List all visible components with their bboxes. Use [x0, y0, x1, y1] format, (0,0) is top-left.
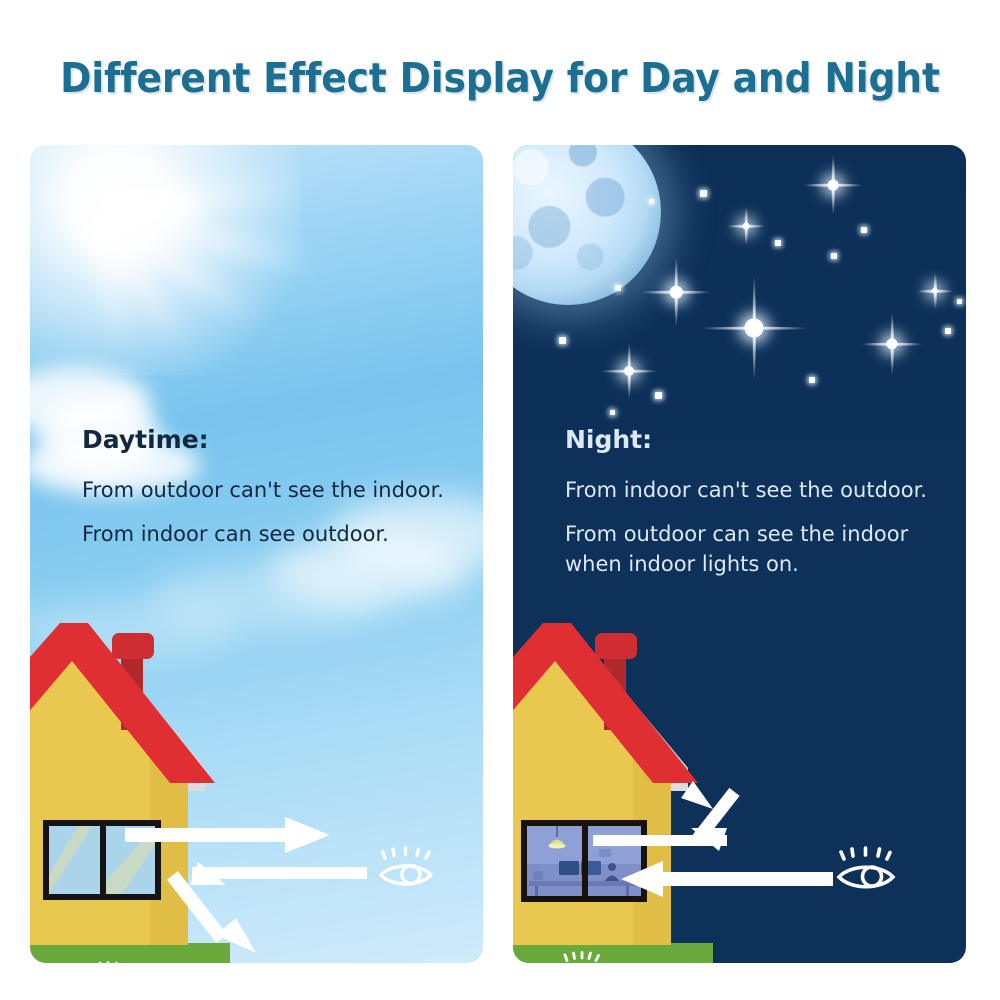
grass-strip [30, 943, 230, 963]
caption-line: From outdoor can see the indoor [565, 520, 965, 550]
caption-night: Night: From indoor can't see the outdoor… [565, 425, 965, 593]
chimney-cap [595, 633, 637, 659]
panel-daytime: Daytime: From outdoor can't see the indo… [30, 145, 483, 963]
star-icon [649, 199, 654, 204]
caption-title-daytime: Daytime: [82, 425, 482, 454]
star-icon [615, 285, 621, 291]
window-mullion [582, 826, 588, 896]
star-icon [917, 273, 953, 309]
grass-strip [513, 943, 713, 963]
indoor-eye-icon [559, 950, 605, 963]
star-icon [861, 313, 923, 375]
panel-night: Night: From indoor can't see the outdoor… [513, 145, 966, 963]
star-icon [610, 410, 615, 415]
caption-line: when indoor lights on. [565, 550, 965, 580]
caption-title-night: Night: [565, 425, 965, 454]
star-icon [727, 207, 765, 245]
outdoor-eye-icon [833, 845, 899, 893]
star-icon [803, 155, 863, 215]
star-icon [559, 337, 566, 344]
star-icon [831, 253, 837, 259]
house-illustration-night [513, 613, 966, 963]
moon-shading [513, 145, 661, 305]
page-title: Different Effect Display for Day and Nig… [40, 54, 960, 102]
star-icon [601, 343, 657, 399]
indoor-eye-icon [86, 960, 130, 963]
chimney-cap [112, 633, 154, 659]
caption-line: From indoor can see outdoor. [82, 520, 482, 550]
star-icon [945, 328, 951, 334]
house-illustration-daytime [30, 613, 483, 963]
caption-line: From indoor can't see the outdoor. [565, 476, 965, 506]
caption-line: From outdoor can't see the indoor. [82, 476, 482, 506]
star-icon [809, 377, 815, 383]
star-icon [701, 275, 807, 381]
star-icon [775, 240, 781, 246]
cloud-icon [85, 180, 205, 228]
star-icon [957, 299, 962, 304]
star-icon [700, 190, 707, 197]
outdoor-eye-icon [375, 845, 437, 889]
star-icon [861, 227, 867, 233]
caption-daytime: Daytime: From outdoor can't see the indo… [82, 425, 482, 564]
